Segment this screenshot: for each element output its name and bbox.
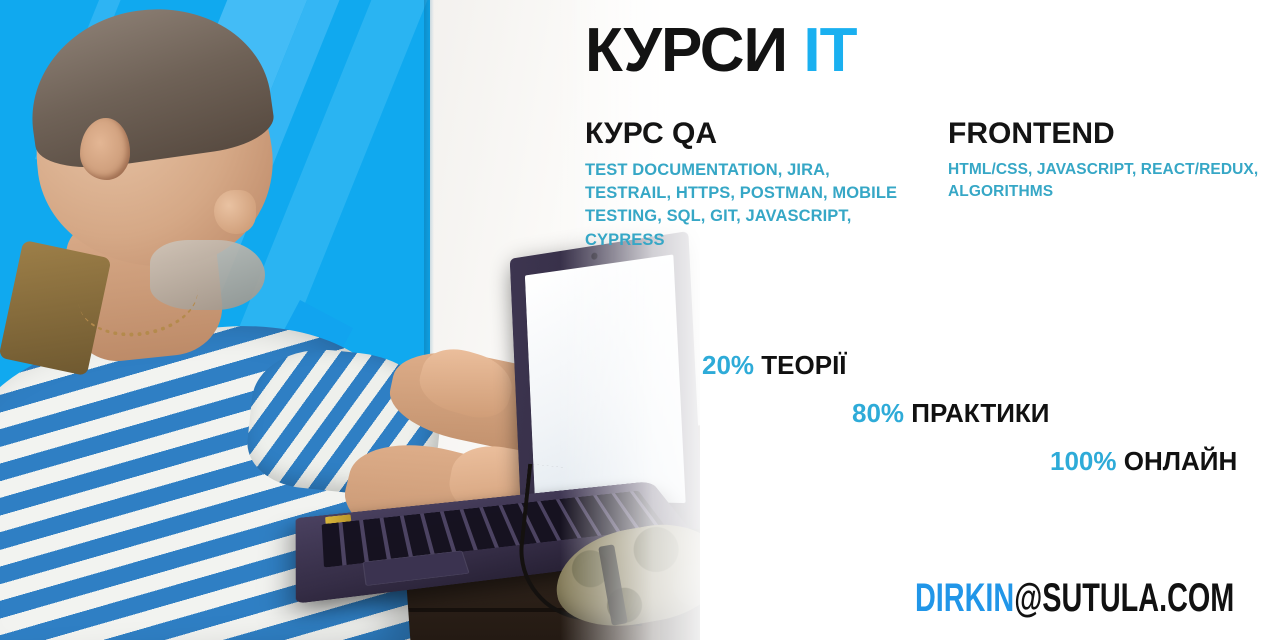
page-title-accent: IT [803,16,856,85]
ear [80,118,130,180]
nose [214,190,256,234]
stat-theory: 20% ТЕОРІЇ [702,352,846,378]
stat-online: 100% ОНЛАЙН [1050,448,1237,474]
stat-label: ОНЛАЙН [1124,446,1237,476]
stat-label: ТЕОРІЇ [761,350,846,380]
stat-percent: 80% [852,398,904,428]
page-title-main: КУРСИ [585,16,787,85]
email-user: DIRKIN [915,576,1014,620]
contact-email[interactable]: DIRKIN@SUTULA.COM [915,578,1234,618]
course-card-qa: КУРС QA TEST DOCUMENTATION, JIRA, TESTRA… [585,118,915,252]
stat-percent: 20% [702,350,754,380]
course-topics-qa: TEST DOCUMENTATION, JIRA, TESTRAIL, HTTP… [585,159,915,253]
email-domain: @SUTULA.COM [1014,576,1234,620]
course-card-frontend: FRONTEND HTML/CSS, JAVASCRIPT, REACT/RED… [948,118,1278,203]
promo-banner: КУРСИ IT КУРС QA TEST DOCUMENTATION, JIR… [0,0,1280,640]
stat-label: ПРАКТИКИ [911,398,1049,428]
stat-practice: 80% ПРАКТИКИ [852,400,1049,426]
page-title: КУРСИ IT [585,20,856,82]
content-area: КУРСИ IT КУРС QA TEST DOCUMENTATION, JIR… [560,0,1280,640]
course-title-frontend: FRONTEND [948,118,1278,150]
course-topics-frontend: HTML/CSS, JAVASCRIPT, REACT/REDUX, ALGOR… [948,159,1278,203]
stat-percent: 100% [1050,446,1117,476]
course-title-qa: КУРС QA [585,118,915,150]
